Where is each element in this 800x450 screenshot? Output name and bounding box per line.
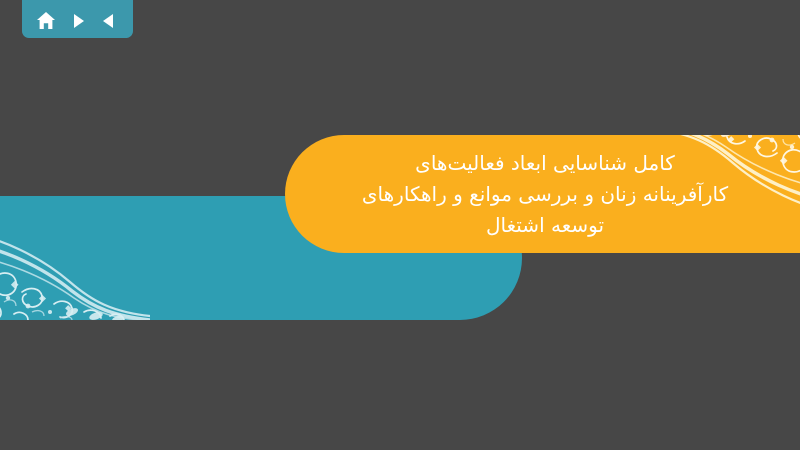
slide-canvas: کامل شناسایی ابعاد فعالیت‌های کارآفرینان… (0, 0, 800, 450)
back-triangle-icon[interactable] (96, 8, 122, 34)
teal-corner-ornament (0, 202, 150, 320)
forward-triangle-icon[interactable] (65, 8, 91, 34)
navigation-bar[interactable] (22, 0, 133, 38)
home-icon[interactable] (33, 8, 59, 34)
orange-banner (285, 135, 800, 253)
orange-corner-ornament (665, 135, 800, 243)
